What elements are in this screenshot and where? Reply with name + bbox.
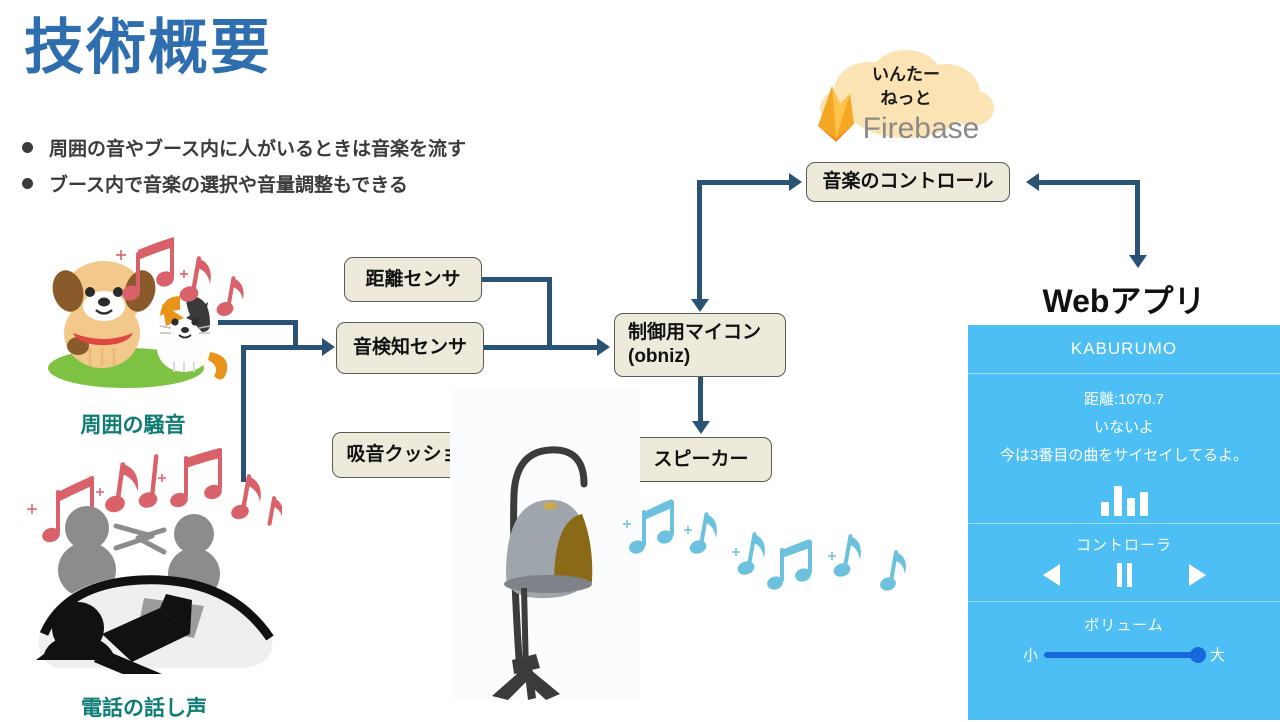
divider <box>968 373 1280 374</box>
connector-ctrl-left-h <box>697 180 789 185</box>
arrowhead-mcu-in <box>597 338 610 356</box>
volume-min-label: 小 <box>1023 644 1038 665</box>
flow-box-microcontroller: 制御用マイコン (obniz) <box>614 313 786 377</box>
volume-max-label: 大 <box>1210 644 1225 665</box>
previous-track-button[interactable] <box>1043 564 1060 586</box>
controller-label: コントローラ <box>968 534 1280 555</box>
volume-section: ボリューム 小 大 <box>968 602 1280 665</box>
cloud-text-line2: ねっと <box>881 89 932 108</box>
volume-slider[interactable] <box>1044 652 1204 658</box>
controller-section: コントローラ <box>968 524 1280 601</box>
bullet-dot-icon <box>22 178 33 189</box>
connector-noise-top <box>218 320 298 325</box>
arrowhead-music-control-left <box>789 173 802 191</box>
list-item: 周囲の音やブース内に人がいるときは音楽を流す <box>22 134 582 161</box>
connector-ctrl-right-h <box>1038 180 1140 185</box>
flow-box-sound-sensor: 音検知センサ <box>336 322 484 374</box>
page-title: 技術概要 <box>24 16 272 79</box>
connector-dist-out <box>480 277 552 282</box>
internet-cloud: いんたー ねっと Firebase <box>806 46 1006 158</box>
arrowhead-music-control-right <box>1026 173 1039 191</box>
arrowhead-mcu-from-cloud <box>691 299 709 312</box>
volume-label: ボリューム <box>968 614 1280 635</box>
arrowhead-sound-sensor <box>322 338 335 356</box>
status-distance: 距離:1070.7 <box>974 388 1274 409</box>
slide-canvas: 技術概要 周囲の音やブース内に人がいるときは音楽を流す ブース内で音楽の選択や音… <box>0 0 1280 720</box>
speaker-music-notes <box>618 492 918 608</box>
controller-buttons <box>968 563 1280 587</box>
connector-noise-top-drop <box>293 320 298 348</box>
pause-button[interactable] <box>1117 563 1132 587</box>
cloud-text-line1: いんたー <box>872 65 940 84</box>
mcu-label-line2: (obniz) <box>628 345 761 369</box>
arrowhead-speaker <box>692 421 710 434</box>
status-presence: いないよ <box>974 416 1274 437</box>
list-item: ブース内で音楽の選択や音量調整もできる <box>22 170 582 197</box>
flow-box-music-control: 音楽のコントロール <box>806 162 1010 202</box>
connector-voice-riser <box>241 345 246 482</box>
status-playing: 今は3番目の曲をサイセイしてるよ。 <box>974 444 1274 465</box>
flow-box-speaker: スピーカー <box>630 437 772 482</box>
next-track-button[interactable] <box>1189 564 1206 586</box>
bullet-text: 周囲の音やブース内に人がいるときは音楽を流す <box>49 134 466 161</box>
volume-slider-thumb[interactable] <box>1190 647 1206 663</box>
mcu-label-line1: 制御用マイコン <box>628 321 761 345</box>
bullet-text: ブース内で音楽の選択や音量調整もできる <box>49 170 408 197</box>
bullet-dot-icon <box>22 142 33 153</box>
bullet-list: 周囲の音やブース内に人がいるときは音楽を流す ブース内で音楽の選択や音量調整もで… <box>22 134 582 206</box>
connector-sound-out <box>482 345 600 350</box>
flow-box-distance-sensor: 距離センサ <box>344 257 482 302</box>
connector-ctrl-right-v <box>1135 180 1140 258</box>
app-status-section: 距離:1070.7 いないよ 今は3番目の曲をサイセイしてるよ。 <box>968 374 1280 516</box>
app-title: KABURUMO <box>968 325 1280 373</box>
connector-mcu-speaker <box>698 377 703 425</box>
webapp-heading: Webアプリ <box>968 276 1280 322</box>
equalizer-icon <box>974 472 1274 516</box>
firebase-wordmark: Firebase <box>863 112 980 145</box>
divider <box>968 523 1280 524</box>
caption-ambient-noise: 周囲の騒音 <box>58 409 208 439</box>
connector-into-sound-sensor <box>241 345 325 350</box>
acoustic-hood-lamp-photo <box>450 388 640 700</box>
volume-slider-row[interactable]: 小 大 <box>968 644 1280 665</box>
connector-ctrl-left-v <box>697 180 702 302</box>
caption-phone-voice: 電話の話し声 <box>64 692 224 722</box>
divider <box>968 601 1280 602</box>
arrowhead-webapp <box>1129 255 1147 268</box>
webapp-panel: KABURUMO 距離:1070.7 いないよ 今は3番目の曲をサイセイしてるよ… <box>968 325 1280 720</box>
connector-dist-drop <box>547 277 552 348</box>
